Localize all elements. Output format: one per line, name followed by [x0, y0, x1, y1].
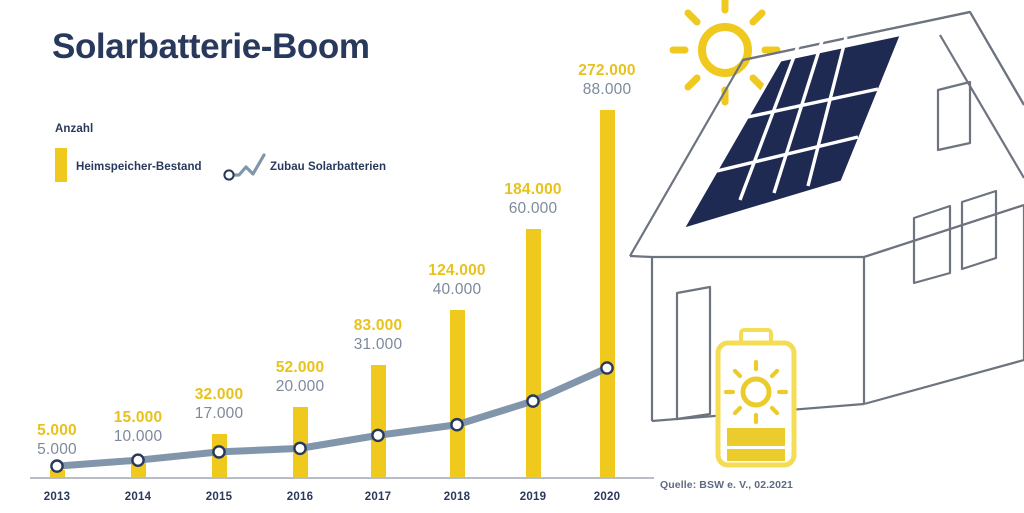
battery-with-sun-icon	[718, 330, 794, 465]
x-tick-2017: 2017	[338, 491, 418, 503]
x-tick-2019: 2019	[493, 491, 573, 503]
x-tick-2018: 2018	[417, 491, 497, 503]
line-value-2014: 10.000	[78, 428, 198, 446]
data-label-2018: 124.00040.000	[397, 262, 517, 299]
line-value-2016: 20.000	[240, 378, 360, 396]
x-tick-2016: 2016	[260, 491, 340, 503]
x-tick-2014: 2014	[98, 491, 178, 503]
bar-value-2016: 52.000	[240, 359, 360, 377]
chart-area: 5.0005.00015.00010.00032.00017.00052.000…	[0, 0, 660, 513]
line-marker-2018	[451, 419, 462, 430]
data-label-2017: 83.00031.000	[318, 317, 438, 354]
bar-value-2017: 83.000	[318, 317, 438, 335]
bar-value-2019: 184.000	[473, 181, 593, 199]
line-marker-2017	[372, 430, 383, 441]
line-marker-2013	[51, 460, 62, 471]
line-value-2015: 17.000	[159, 405, 279, 423]
line-marker-2020	[601, 362, 612, 373]
bar-value-2018: 124.000	[397, 262, 517, 280]
line-value-2017: 31.000	[318, 336, 438, 354]
line-value-2018: 40.000	[397, 281, 517, 299]
line-marker-2014	[132, 455, 143, 466]
solar-panel-icon	[682, 34, 902, 230]
x-tick-2015: 2015	[179, 491, 259, 503]
line-marker-2016	[294, 443, 305, 454]
sun-icon	[673, 0, 777, 102]
data-label-2019: 184.00060.000	[473, 181, 593, 218]
line-marker-2019	[527, 395, 538, 406]
x-tick-2013: 2013	[17, 491, 97, 503]
data-label-2016: 52.00020.000	[240, 359, 360, 396]
line-value-2019: 60.000	[473, 200, 593, 218]
illustration	[620, 0, 1024, 500]
line-marker-2015	[213, 446, 224, 457]
infographic-root: Solarbatterie-Boom Anzahl Heimspeicher-B…	[0, 0, 1024, 513]
